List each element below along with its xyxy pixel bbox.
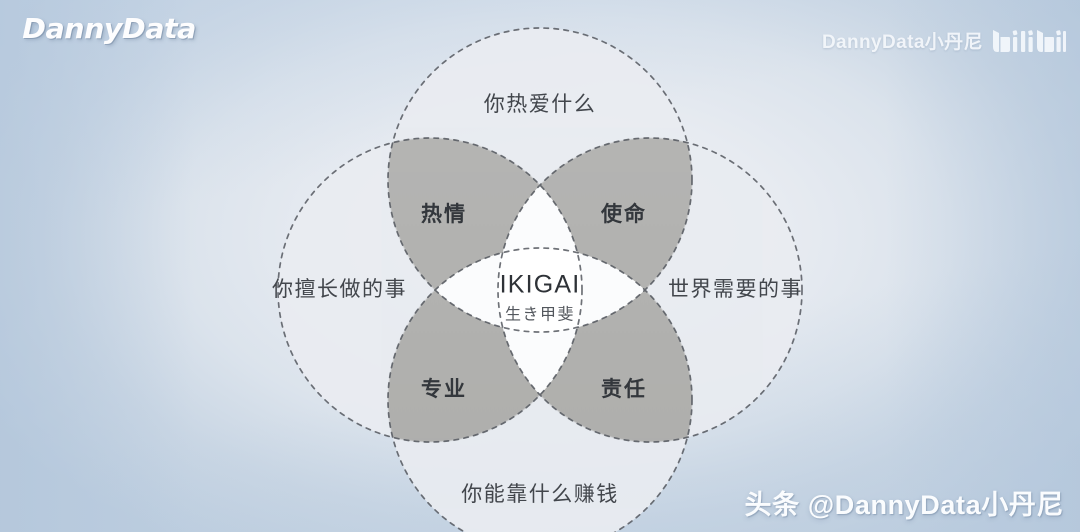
circle-label-what-you-are-good-at: 你擅长做的事 — [272, 273, 407, 303]
circle-label-what-you-can-be-paid-for: 你能靠什么赚钱 — [461, 478, 619, 508]
bilibili-logo — [992, 28, 1066, 54]
ikigai-venn-diagram — [0, 0, 1080, 532]
bilibili-logo-glyph — [992, 28, 1066, 54]
bottom-right-watermark: 头条 @DannyData小丹尼 — [745, 483, 1064, 522]
circle-label-what-world-needs: 世界需要的事 — [668, 273, 803, 303]
top-right-watermark-text: DannyData小丹尼 — [822, 27, 983, 54]
ikigai-center-label: IKIGAI 生き甲斐 — [470, 271, 610, 324]
dannydata-logo: DannyData — [22, 12, 196, 45]
petal-label-vocation: 责任 — [601, 373, 647, 403]
ikigai-title-japanese: 生き甲斐 — [470, 301, 610, 325]
ikigai-title-english: IKIGAI — [470, 271, 610, 297]
petal-label-passion: 热情 — [421, 198, 467, 228]
petal-label-mission: 使命 — [601, 198, 647, 228]
venn-svg-canvas — [0, 0, 1080, 532]
circle-label-what-you-love: 你热爱什么 — [484, 88, 597, 118]
top-right-watermark: DannyData小丹尼 — [822, 27, 1066, 54]
petal-label-profession: 专业 — [421, 373, 467, 403]
